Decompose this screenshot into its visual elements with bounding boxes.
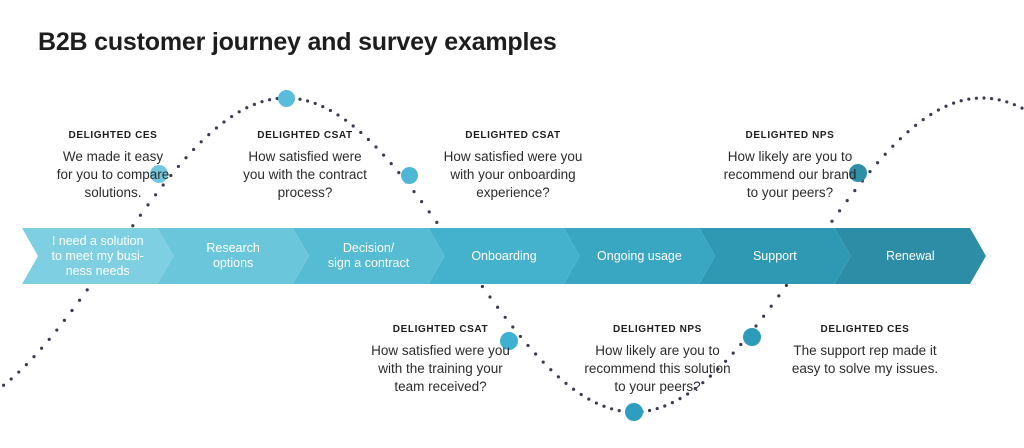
stage-onboarding: Onboarding — [428, 228, 579, 284]
annotation-line: to your peers? — [690, 184, 890, 202]
annotation-line: We made it easy — [18, 148, 208, 166]
annotation-csat-training: DELIGHTED CSATHow satisfied were youwith… — [338, 324, 543, 396]
annotation-line: recommend this solution — [555, 360, 760, 378]
stage-label-line: I need a solution — [52, 234, 144, 249]
stage-label-line: sign a contract — [328, 256, 409, 271]
annotation-line: team received? — [338, 378, 543, 396]
journey-stage-bar: I need a solutionto meet my busi-ness ne… — [22, 228, 986, 284]
stage-label-line: Support — [753, 249, 797, 264]
annotation-line: to your peers? — [555, 378, 760, 396]
stage-usage: Ongoing usage — [564, 228, 715, 284]
stage-label-line: Onboarding — [471, 249, 536, 264]
stage-label: Researchoptions — [200, 241, 266, 271]
annotation-line: How satisfied were — [205, 148, 405, 166]
annotation-kicker: DELIGHTED CES — [18, 130, 208, 141]
stage-label: Support — [747, 249, 803, 264]
annotation-line: experience? — [408, 184, 618, 202]
annotation-csat-contract: DELIGHTED CSATHow satisfied wereyou with… — [205, 130, 405, 202]
annotation-kicker: DELIGHTED CSAT — [408, 130, 618, 141]
stage-label: Onboarding — [465, 249, 542, 264]
annotation-line: process? — [205, 184, 405, 202]
annotation-kicker: DELIGHTED CSAT — [338, 324, 543, 335]
annotation-line: with your onboarding — [408, 166, 618, 184]
annotation-line: for you to compare — [18, 166, 208, 184]
annotation-csat-onboarding: DELIGHTED CSATHow satisfied were youwith… — [408, 130, 618, 202]
stage-label: Renewal — [880, 249, 941, 264]
annotation-line: easy to solve my issues. — [760, 360, 970, 378]
annotation-line: solutions. — [18, 184, 208, 202]
stage-label: Ongoing usage — [591, 249, 688, 264]
annotation-line: How likely are you to — [690, 148, 890, 166]
annotation-line: How likely are you to — [555, 342, 760, 360]
annotation-line: The support rep made it — [760, 342, 970, 360]
annotation-kicker: DELIGHTED CSAT — [205, 130, 405, 141]
stage-label-line: ness needs — [52, 264, 144, 279]
annotation-kicker: DELIGHTED NPS — [555, 324, 760, 335]
annotation-line: recommend our brand — [690, 166, 890, 184]
annotation-kicker: DELIGHTED CES — [760, 324, 970, 335]
annotation-nps-solution: DELIGHTED NPSHow likely are you torecomm… — [555, 324, 760, 396]
stage-label-line: Research — [206, 241, 260, 256]
annotation-line: How satisfied were you — [408, 148, 618, 166]
annotation-line: you with the contract — [205, 166, 405, 184]
stage-label-line: options — [206, 256, 260, 271]
stage-support: Support — [699, 228, 850, 284]
annotation-nps-brand: DELIGHTED NPSHow likely are you torecomm… — [690, 130, 890, 202]
stage-label: I need a solutionto meet my busi-ness ne… — [46, 234, 150, 279]
stage-research: Researchoptions — [157, 228, 308, 284]
stage-renewal: Renewal — [835, 228, 986, 284]
journey-diagram: B2B customer journey and survey examples… — [0, 0, 1024, 448]
annotation-line: How satisfied were you — [338, 342, 543, 360]
stage-label-line: Decision/ — [328, 241, 409, 256]
stage-label: Decision/sign a contract — [322, 241, 415, 271]
stage-decision: Decision/sign a contract — [293, 228, 444, 284]
stage-label-line: to meet my busi- — [52, 249, 144, 264]
stage-label-line: Ongoing usage — [597, 249, 682, 264]
annotation-ces-compare: DELIGHTED CESWe made it easyfor you to c… — [18, 130, 208, 202]
stage-label-line: Renewal — [886, 249, 935, 264]
stage-need: I need a solutionto meet my busi-ness ne… — [22, 228, 173, 284]
annotation-kicker: DELIGHTED NPS — [690, 130, 890, 141]
annotation-ces-support: DELIGHTED CESThe support rep made iteasy… — [760, 324, 970, 378]
annotation-line: with the training your — [338, 360, 543, 378]
dot-trough — [625, 403, 643, 421]
dot-crest — [278, 90, 295, 107]
